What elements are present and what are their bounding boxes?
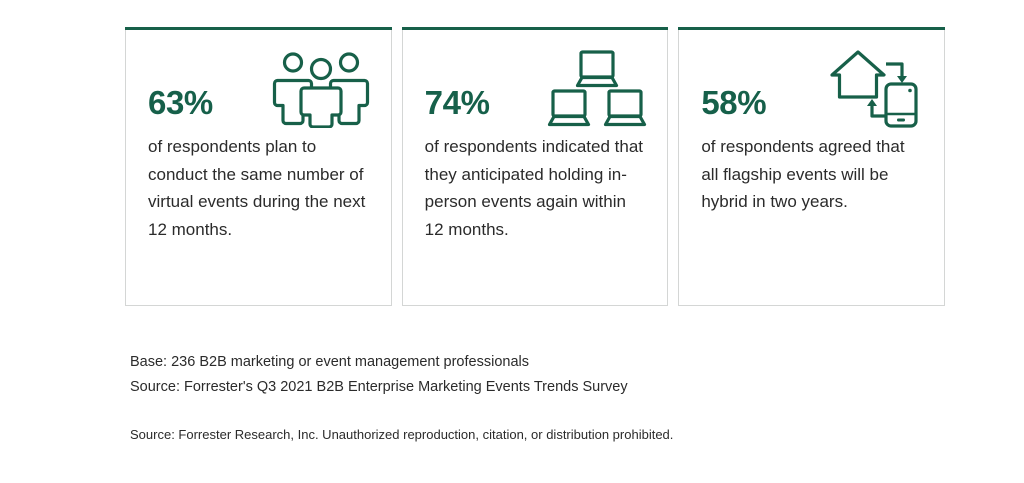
infographic-root: 63% of respondents plan to conduct the s… bbox=[0, 0, 1024, 483]
footnote-source: Source: Forrester's Q3 2021 B2B Enterpri… bbox=[130, 375, 970, 400]
stat-card-hybrid-events: 58% of respondents agreed that all flags… bbox=[678, 30, 945, 306]
stat-card-in-person-events: 74% of respondents indicated that they a… bbox=[402, 30, 669, 306]
three-people-icon bbox=[271, 48, 371, 128]
stat-card-row: 63% of respondents plan to conduct the s… bbox=[125, 30, 945, 306]
stat-description: of respondents indicated that they antic… bbox=[425, 133, 646, 243]
three-laptops-icon bbox=[547, 48, 647, 128]
stat-card-virtual-events: 63% of respondents plan to conduct the s… bbox=[125, 30, 392, 306]
house-phone-exchange-icon bbox=[824, 48, 924, 128]
stat-description: of respondents plan to conduct the same … bbox=[148, 133, 369, 243]
copyright-notice: Source: Forrester Research, Inc. Unautho… bbox=[130, 426, 673, 444]
footnote-base: Base: 236 B2B marketing or event managem… bbox=[130, 350, 970, 375]
stat-description: of respondents agreed that all flagship … bbox=[701, 133, 922, 216]
footnotes-block: Base: 236 B2B marketing or event managem… bbox=[130, 350, 970, 400]
